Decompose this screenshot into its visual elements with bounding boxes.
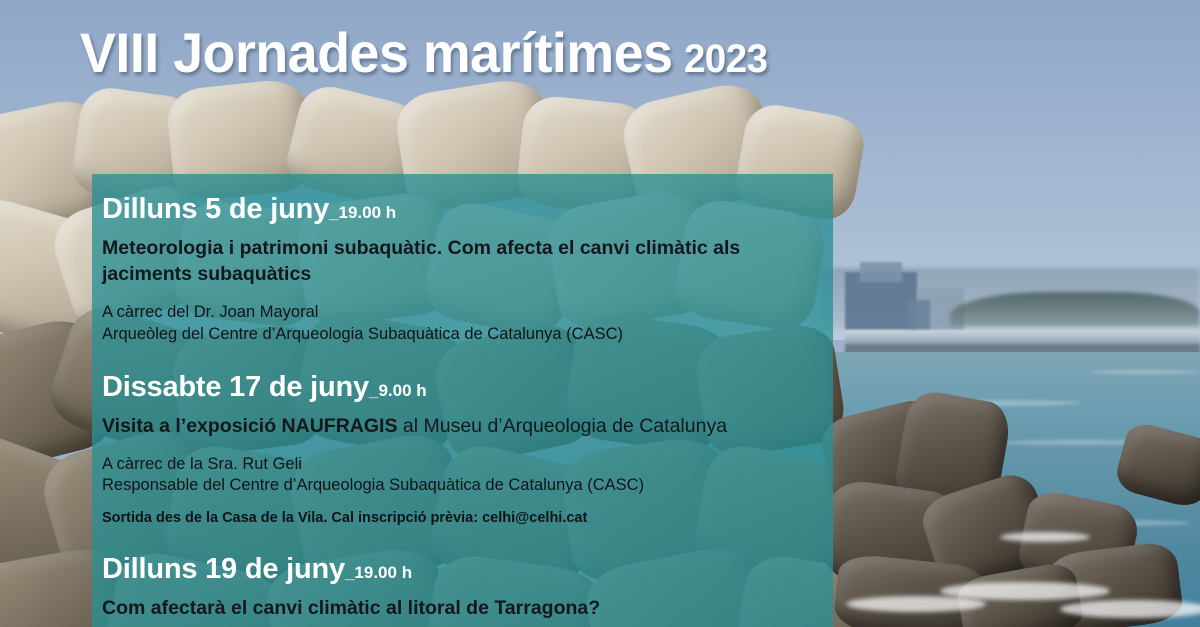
- event-block-2: Dissabte 17 de juny_9.00 h Visita a l’ex…: [102, 370, 811, 529]
- spacer: [102, 348, 811, 370]
- event-note-2: Sortida des de la Casa de la Vila. Cal i…: [102, 509, 811, 528]
- event-day-label-2: Dissabte 17 de juny: [102, 371, 369, 403]
- event-subject-bold-3: Com afectarà el canvi climàtic al litora…: [102, 597, 600, 619]
- building-block-2: [860, 262, 902, 282]
- programme-panel: Dilluns 5 de juny_19.00 h Meteorologia i…: [92, 174, 833, 627]
- event-time-3: _19.00 h: [345, 563, 412, 582]
- spacer: [102, 530, 811, 552]
- event-time-2: _9.00 h: [369, 381, 427, 400]
- event-credit-line-2b: Responsable del Centre d’Arqueologia Sub…: [102, 475, 811, 497]
- tree-line: [950, 292, 1200, 326]
- event-day-2: Dissabte 17 de juny_9.00 h: [102, 370, 811, 404]
- event-day-label-3: Dilluns 19 de juny: [102, 553, 345, 585]
- event-time-1: _19.00 h: [329, 203, 396, 222]
- promenade-strip: [845, 330, 1200, 344]
- surf-foam: [940, 582, 1110, 600]
- event-subject-2: Visita a l’exposició NAUFRAGIS al Museu …: [102, 414, 802, 440]
- event-subject-3: Com afectarà el canvi climàtic al litora…: [102, 596, 802, 622]
- surf-foam: [1000, 532, 1090, 542]
- event-subject-bold-1: Meteorologia i patrimoni subaquàtic. Com…: [102, 237, 740, 285]
- poster-root: VIII Jornades marítimes2023 Dilluns 5 de…: [0, 0, 1200, 627]
- event-day-3: Dilluns 19 de juny_19.00 h: [102, 552, 811, 586]
- surf-foam: [846, 596, 986, 612]
- building-block-4: [908, 300, 930, 330]
- sea-wave: [1090, 370, 1200, 374]
- event-credit-line-2a: A càrrec de la Sra. Rut Geli: [102, 454, 811, 476]
- event-day-label-1: Dilluns 5 de juny: [102, 193, 329, 225]
- event-subject-bold-2: Visita a l’exposició NAUFRAGIS: [102, 415, 397, 437]
- event-day-1: Dilluns 5 de juny_19.00 h: [102, 192, 811, 226]
- event-subject-1: Meteorologia i patrimoni subaquàtic. Com…: [102, 236, 802, 287]
- event-block-1: Dilluns 5 de juny_19.00 h Meteorologia i…: [102, 192, 811, 346]
- event-credit-line-1a: A càrrec del Dr. Joan Mayoral: [102, 302, 811, 324]
- event-subject-light-2: al Museu d’Arqueologia de Catalunya: [397, 415, 727, 437]
- event-credit-line-1b: Arqueòleg del Centre d’Arqueologia Subaq…: [102, 324, 811, 346]
- event-block-3: Dilluns 19 de juny_19.00 h Com afectarà …: [102, 552, 811, 627]
- surf-foam: [1060, 600, 1200, 618]
